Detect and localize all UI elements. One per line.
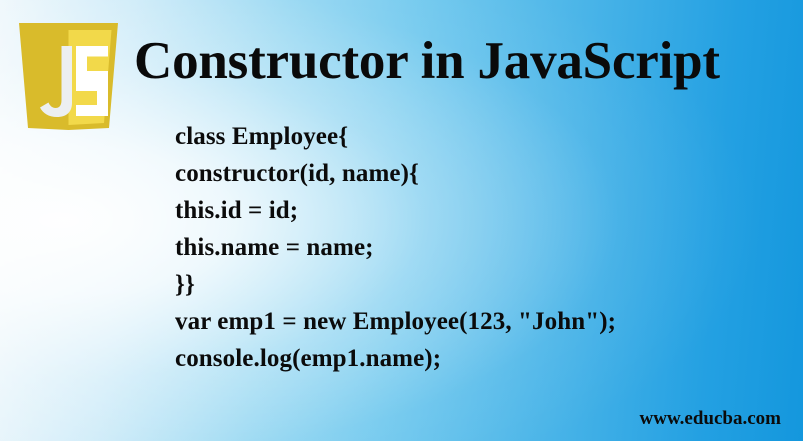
javascript-logo-svg (18, 22, 119, 131)
javascript-logo (18, 22, 119, 131)
code-line: var emp1 = new Employee(123, "John"); (175, 303, 775, 340)
code-line: console.log(emp1.name); (175, 340, 775, 377)
code-line: this.name = name; (175, 229, 775, 266)
logo-letter-s (76, 46, 108, 116)
slide-canvas: Constructor in JavaScript class Employee… (0, 0, 803, 441)
code-line: this.id = id; (175, 192, 775, 229)
page-title: Constructor in JavaScript (134, 28, 794, 94)
code-line: }} (175, 266, 775, 303)
code-block: class Employee{ constructor(id, name){ t… (175, 118, 775, 377)
code-line: constructor(id, name){ (175, 155, 775, 192)
code-line: class Employee{ (175, 118, 775, 155)
footer-website-url: www.educba.com (640, 407, 781, 431)
